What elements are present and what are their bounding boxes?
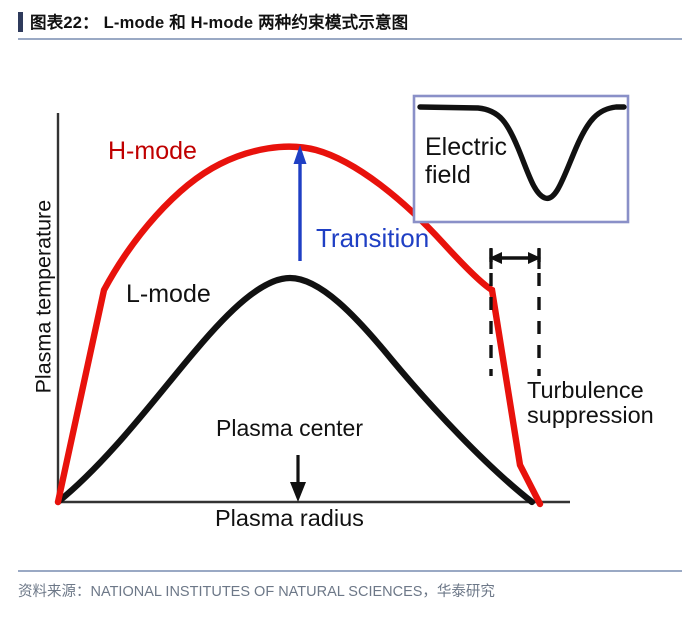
diagram-canvas: H-mode L-mode Transition Plasma center T… [0, 42, 700, 545]
l-mode-curve [58, 278, 532, 502]
electric-field-line-1: Electric [425, 133, 507, 161]
turbulence-suppression-label: Turbulencesuppression [527, 378, 654, 429]
transition-label: Transition [316, 224, 429, 252]
figure-header: 图表22： L-mode 和 H-mode 两种约束模式示意图 [0, 0, 700, 42]
turbulence-line-2: suppression [527, 402, 654, 428]
turbulence-line-1: Turbulence [527, 377, 644, 403]
header-accent-bar [18, 12, 23, 32]
header-divider [18, 38, 682, 40]
y-axis-label: Plasma temperature [32, 167, 55, 427]
plasma-confinement-diagram [0, 42, 700, 545]
h-mode-label: H-mode [108, 138, 197, 165]
turbulence-suppression-span-arrow [489, 248, 541, 269]
electric-field-line-2: field [425, 161, 471, 189]
plasma-center-arrow [290, 455, 306, 502]
transition-arrow [294, 145, 307, 261]
source-note: 资料来源：NATIONAL INSTITUTES OF NATURAL SCIE… [18, 580, 495, 601]
electric-field-inset-label: Electricfield [425, 134, 507, 189]
x-axis-label: Plasma radius [215, 506, 364, 531]
footer-divider [18, 570, 682, 572]
plasma-center-label: Plasma center [216, 416, 363, 441]
page-title: 图表22： L-mode 和 H-mode 两种约束模式示意图 [30, 9, 408, 33]
l-mode-label: L-mode [126, 281, 211, 308]
